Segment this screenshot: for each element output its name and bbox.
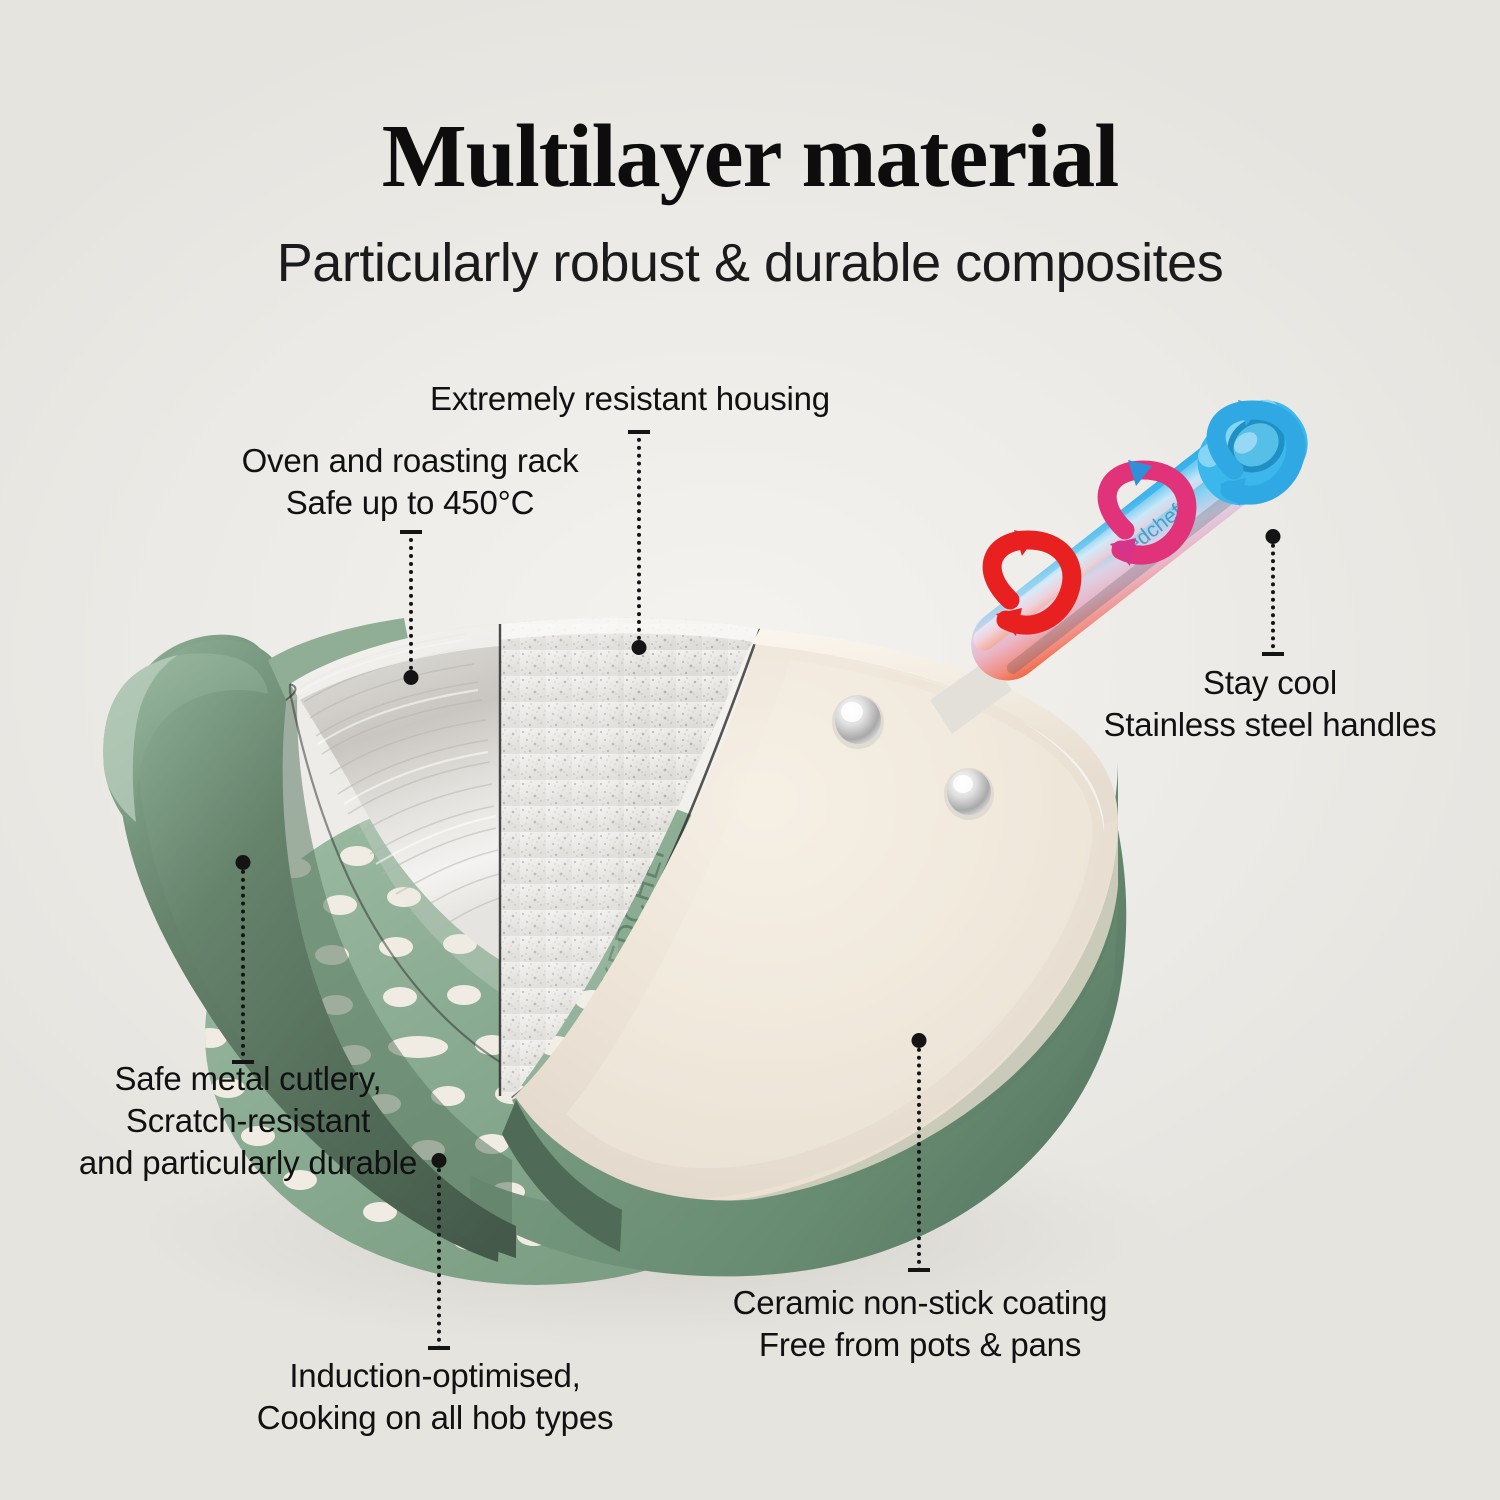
label-extremely-resistant-housing: Extremely resistant housing <box>330 378 930 420</box>
leader-line-induction <box>428 1160 450 1350</box>
cutaway-pan-illustration: KEDCHEF <box>0 0 1500 1500</box>
leader-line-stay-cool <box>1262 536 1284 656</box>
label-stay-cool-handles: Stay cool Stainless steel handles <box>1060 662 1480 746</box>
label-ceramic-non-stick: Ceramic non-stick coating Free from pots… <box>640 1282 1200 1366</box>
label-induction-optimised: Induction-optimised, Cooking on all hob … <box>185 1355 685 1439</box>
rivet-lower <box>947 769 991 815</box>
leader-line-scratch-resistant <box>232 862 254 1064</box>
label-oven-and-roasting-rack: Oven and roasting rack Safe up to 450°C <box>120 440 700 524</box>
label-scratch-resistant: Safe metal cutlery, Scratch-resistant an… <box>18 1058 478 1185</box>
infographic-canvas: Multilayer material Particularly robust … <box>0 0 1500 1500</box>
leader-line-ceramic <box>908 1040 930 1272</box>
leader-line-oven-safe <box>400 530 422 678</box>
